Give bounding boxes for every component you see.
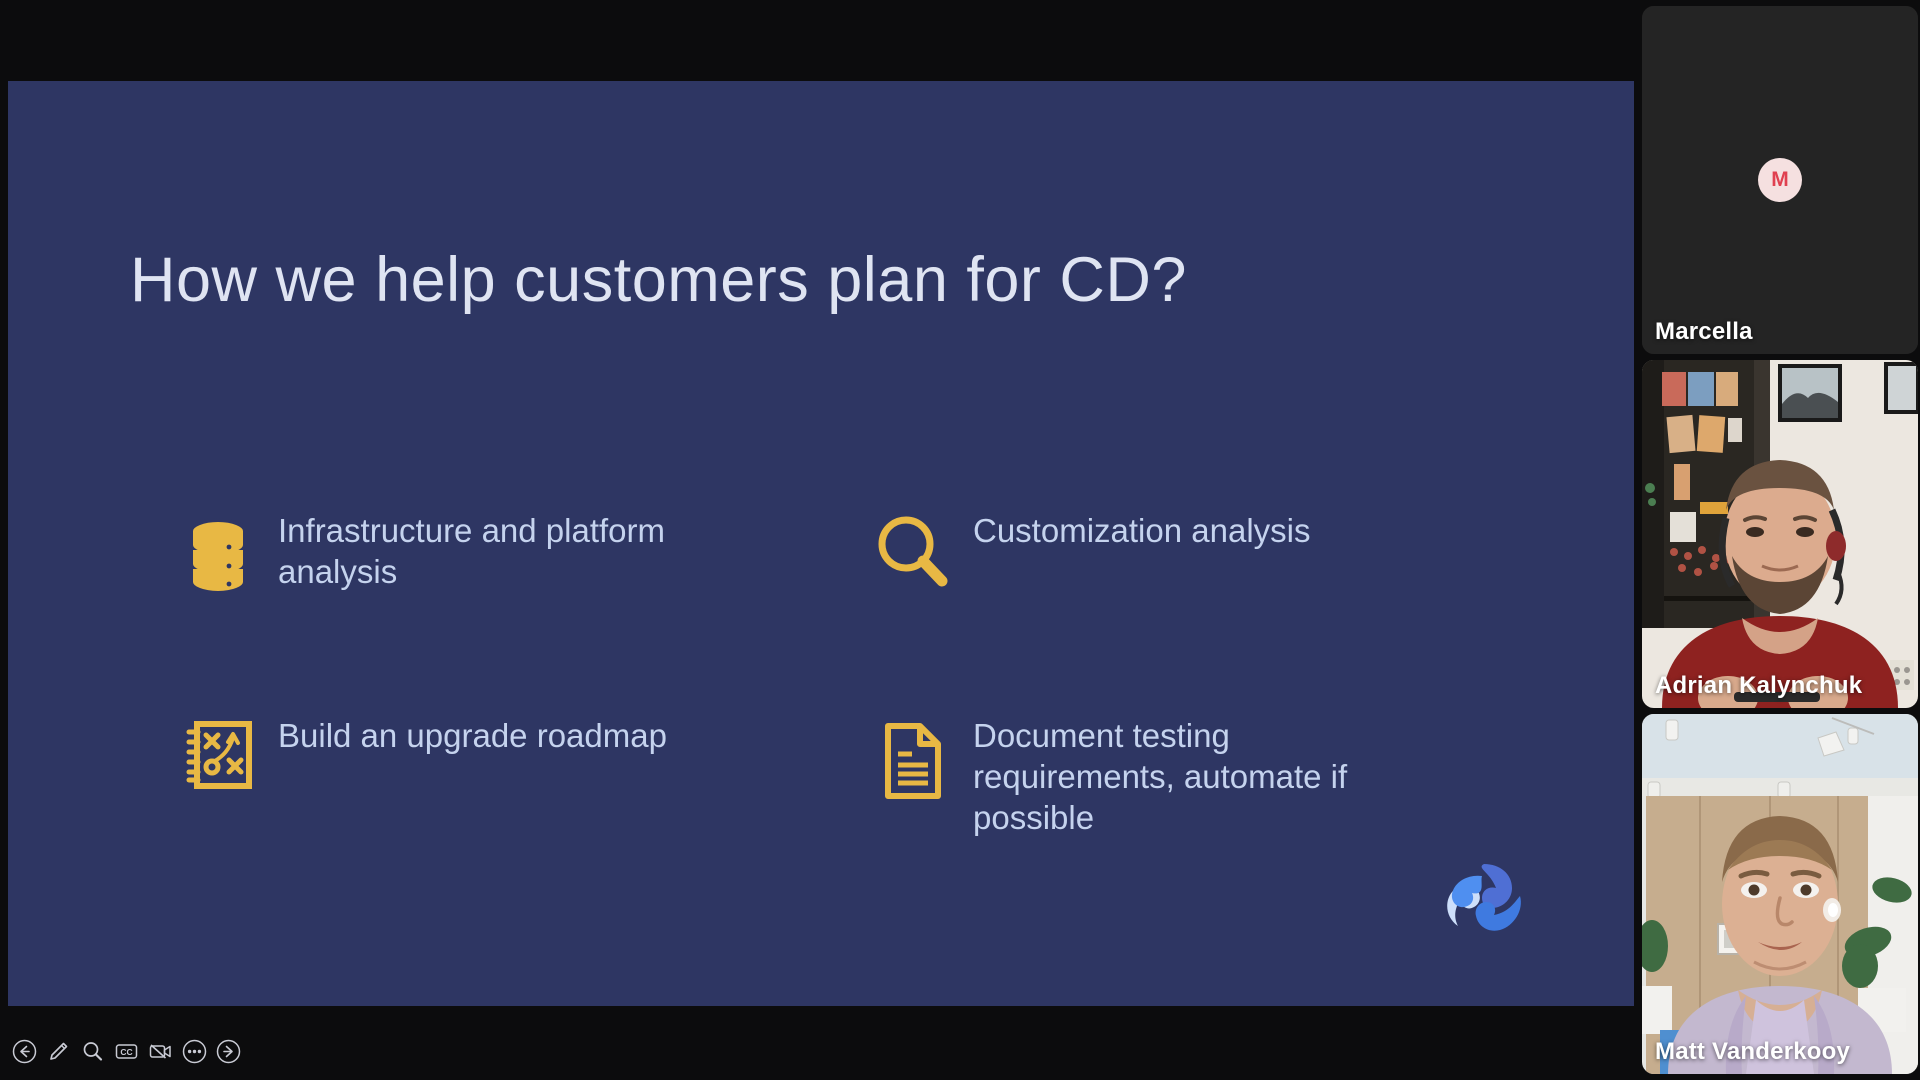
slide-items-grid: Infrastructure and platform analysis Cus…	[158, 511, 1518, 981]
slide-item-roadmap: Build an upgrade roadmap	[158, 716, 823, 981]
presentation-slide[interactable]: How we help customers plan for CD?	[8, 81, 1634, 1006]
meeting-screen: How we help customers plan for CD?	[0, 0, 1920, 1080]
strategy-board-icon	[158, 716, 278, 794]
slide-item-infrastructure: Infrastructure and platform analysis	[158, 511, 823, 716]
document-icon	[853, 716, 973, 800]
participant-name: Adrian Kalynchuk	[1655, 672, 1862, 700]
closed-captions-button[interactable]: CC	[114, 1039, 139, 1064]
slide-item-document-testing: Document testing requirements, automate …	[853, 716, 1518, 981]
previous-slide-button[interactable]	[12, 1039, 37, 1064]
participant-name: Marcella	[1655, 318, 1753, 346]
avatar: M	[1758, 158, 1802, 202]
slide-item-label: Document testing requirements, automate …	[973, 716, 1393, 839]
slide-item-customization: Customization analysis	[853, 511, 1518, 716]
slide-title: How we help customers plan for CD?	[130, 244, 1187, 316]
magnifier-icon	[853, 511, 973, 589]
participant-tile-marcella[interactable]: M Marcella	[1642, 6, 1918, 354]
slide-item-label: Build an upgrade roadmap	[278, 716, 667, 757]
annotate-button[interactable]	[46, 1039, 71, 1064]
participant-tile-matt[interactable]: Matt Vanderkooy	[1642, 714, 1918, 1074]
shared-content-stage: How we help customers plan for CD?	[0, 0, 1640, 1080]
participant-tile-adrian[interactable]: Adrian Kalynchuk	[1642, 360, 1918, 708]
database-icon	[158, 511, 278, 593]
zoom-button[interactable]	[80, 1039, 105, 1064]
slide-item-label: Customization analysis	[973, 511, 1310, 552]
more-options-button[interactable]	[182, 1039, 207, 1064]
stop-video-button[interactable]	[148, 1039, 173, 1064]
participant-name: Matt Vanderkooy	[1655, 1038, 1850, 1066]
presenter-toolbar[interactable]: CC	[8, 1039, 241, 1064]
blue-swirl-logo	[1442, 860, 1526, 934]
participant-video-feed	[1642, 714, 1918, 1074]
participant-rail: M Marcella	[1640, 0, 1920, 1080]
participant-video-feed	[1642, 360, 1918, 708]
svg-text:CC: CC	[120, 1047, 132, 1057]
slide-item-label: Infrastructure and platform analysis	[278, 511, 698, 593]
next-slide-button[interactable]	[216, 1039, 241, 1064]
